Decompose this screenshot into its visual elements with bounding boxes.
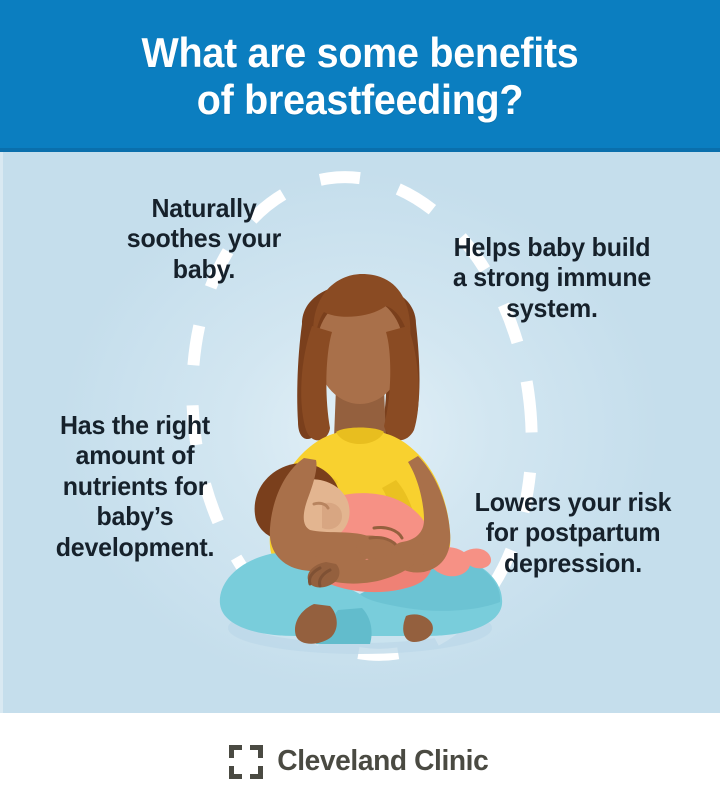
benefit-label-immune: Helps baby build a strong immune system.	[452, 232, 652, 323]
header-banner: What are some benefits of breastfeeding?	[0, 0, 720, 152]
benefit-label-soothes: Naturally soothes your baby.	[102, 193, 306, 284]
page-title-line-1: What are some benefits	[142, 29, 579, 76]
page-title: What are some benefits of breastfeeding?	[78, 29, 642, 123]
benefit-label-nutrients: Has the right amount of nutrients for ba…	[34, 410, 236, 562]
brand-logo: Cleveland Clinic	[229, 745, 492, 779]
footer: Cleveland Clinic	[0, 713, 720, 810]
cleveland-clinic-logo-icon	[229, 745, 263, 779]
illustration-stage: Naturally soothes your baby. Helps baby …	[0, 152, 720, 713]
page-title-line-2: of breastfeeding?	[197, 76, 523, 123]
benefit-label-postpartum: Lowers your risk for postpartum depressi…	[472, 487, 674, 578]
stage-left-edge	[0, 152, 3, 713]
brand-name: Cleveland Clinic	[277, 745, 488, 778]
infographic-root: What are some benefits of breastfeeding?	[0, 0, 720, 810]
